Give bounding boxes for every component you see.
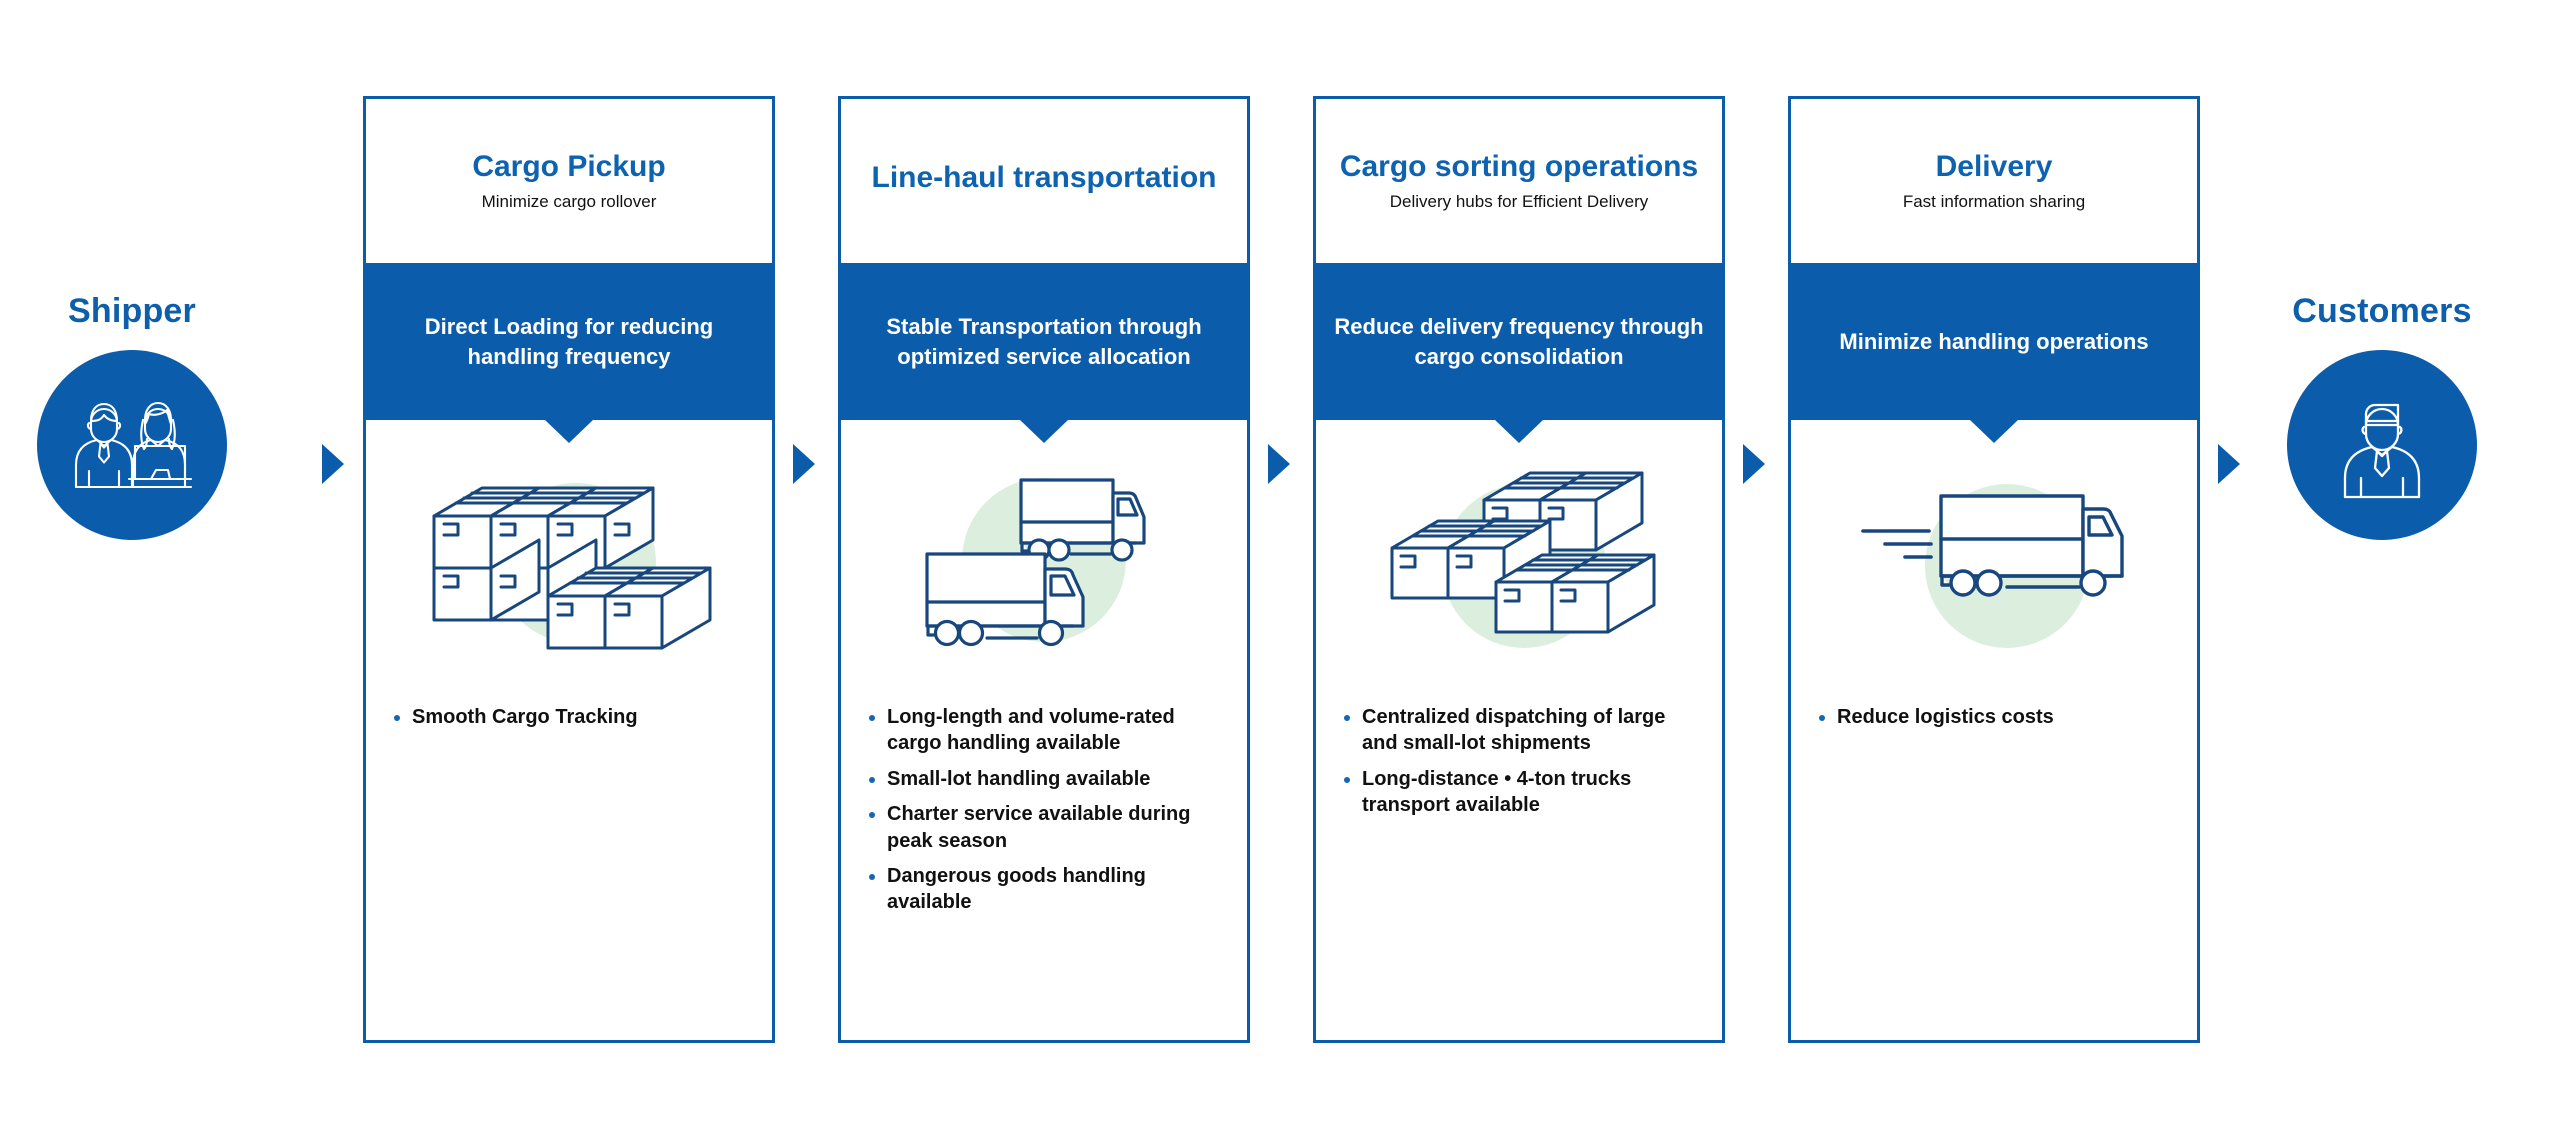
list-item: Charter service available during peak se… (867, 801, 1223, 854)
card-header: Cargo sorting operations Delivery hubs f… (1316, 99, 1722, 263)
list-item: Smooth Cargo Tracking (392, 704, 748, 730)
fast-moving-truck-icon (1849, 458, 2139, 673)
flow-arrow-3 (1268, 444, 1290, 484)
card-title: Line-haul transportation (872, 161, 1217, 195)
card-title: Cargo sorting operations (1340, 150, 1698, 184)
list-item: Small-lot handling available (867, 766, 1223, 792)
card-title: Cargo Pickup (472, 150, 665, 184)
card-band-text: Reduce delivery frequency through cargo … (1332, 312, 1706, 371)
card-highlight-band: Reduce delivery frequency through cargo … (1316, 263, 1722, 420)
card-illustration (841, 450, 1247, 680)
card-highlight-band: Stable Transportation through optimized … (841, 263, 1247, 420)
flow-arrow-4 (1743, 444, 1765, 484)
band-notch-triangle (1494, 419, 1544, 443)
card-illustration (1791, 450, 2197, 680)
card-band-text: Minimize handling operations (1839, 327, 2148, 356)
stacked-cardboard-boxes-icon (424, 458, 714, 673)
card-subtitle: Fast information sharing (1903, 191, 2085, 212)
list-item: Long-length and volume-rated cargo handl… (867, 704, 1223, 757)
delivery-staff-icon (2323, 389, 2441, 501)
band-notch-triangle (1969, 419, 2019, 443)
list-item: Reduce logistics costs (1817, 704, 2173, 730)
card-band-text: Stable Transportation through optimized … (857, 312, 1231, 371)
customers-avatar-circle (2287, 350, 2477, 540)
step-card-cargo-pickup: Cargo Pickup Minimize cargo rollover Dir… (363, 96, 775, 1043)
band-notch-triangle (544, 419, 594, 443)
card-illustration (366, 450, 772, 680)
card-bullet-list: Reduce logistics costs (1791, 704, 2197, 739)
card-bullet-list: Centralized dispatching of large and sma… (1316, 704, 1722, 828)
card-bullet-list: Smooth Cargo Tracking (366, 704, 772, 739)
step-card-line-haul-transportation: Line-haul transportation Stable Transpor… (838, 96, 1250, 1043)
step-card-cargo-sorting-operations: Cargo sorting operations Delivery hubs f… (1313, 96, 1725, 1043)
card-bullet-list: Long-length and volume-rated cargo handl… (841, 704, 1247, 925)
three-cardboard-box-groups-icon (1374, 458, 1664, 673)
card-subtitle: Minimize cargo rollover (482, 191, 657, 212)
endpoint-customers: Customers (2262, 294, 2502, 540)
two-delivery-trucks-icon (899, 458, 1189, 673)
card-highlight-band: Direct Loading for reducing handling fre… (366, 263, 772, 420)
card-header: Cargo Pickup Minimize cargo rollover (366, 99, 772, 263)
list-item: Long-distance • 4-ton trucks transport a… (1342, 766, 1698, 819)
card-title: Delivery (1936, 150, 2053, 184)
list-item: Centralized dispatching of large and sma… (1342, 704, 1698, 757)
endpoint-shipper: Shipper (12, 294, 252, 540)
band-notch-triangle (1019, 419, 1069, 443)
shipper-avatar-circle (37, 350, 227, 540)
card-subtitle: Delivery hubs for Efficient Delivery (1390, 191, 1649, 212)
two-office-workers-icon (67, 390, 197, 500)
card-illustration (1316, 450, 1722, 680)
flow-arrow-2 (793, 444, 815, 484)
shipper-label: Shipper (12, 294, 252, 328)
card-header: Delivery Fast information sharing (1791, 99, 2197, 263)
card-highlight-band: Minimize handling operations (1791, 263, 2197, 420)
card-band-text: Direct Loading for reducing handling fre… (382, 312, 756, 371)
flow-arrow-5 (2218, 444, 2240, 484)
logistics-flow-diagram: Shipper (0, 0, 2560, 1140)
flow-arrow-1 (322, 444, 344, 484)
list-item: Dangerous goods handling available (867, 863, 1223, 916)
card-header: Line-haul transportation (841, 99, 1247, 263)
step-card-delivery: Delivery Fast information sharing Minimi… (1788, 96, 2200, 1043)
customers-label: Customers (2262, 294, 2502, 328)
